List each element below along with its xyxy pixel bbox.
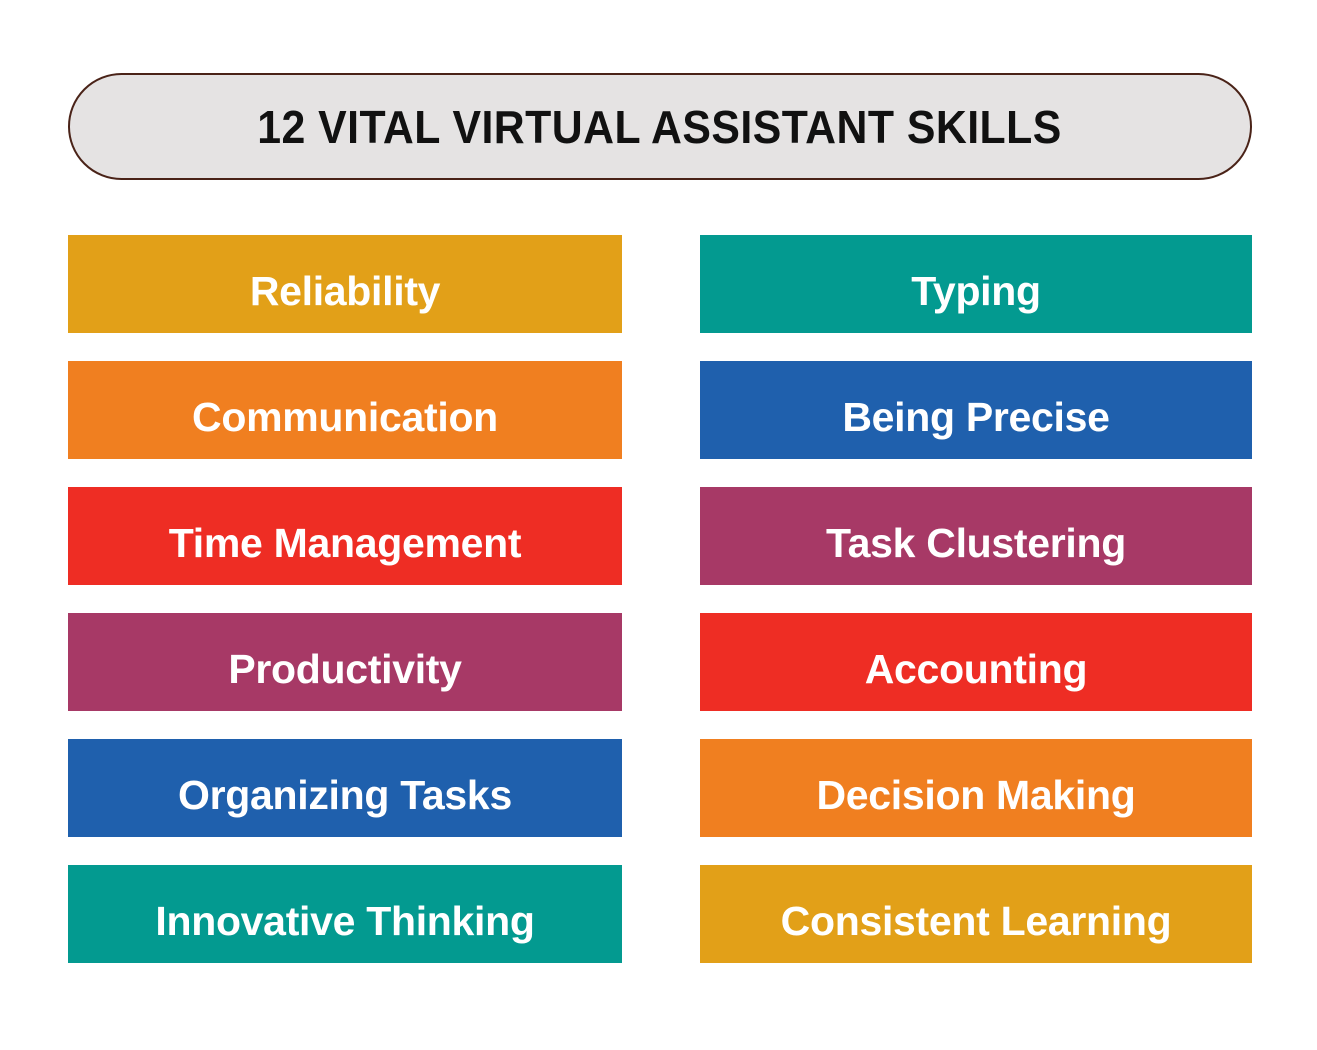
skill-bar-consistent-learning[interactable]: Consistent Learning	[700, 865, 1252, 963]
skills-column-right: Typing Being Precise Task Clustering Acc…	[700, 235, 1252, 963]
skill-label: Reliability	[250, 271, 440, 312]
skill-bar-reliability[interactable]: Reliability	[68, 235, 622, 333]
skill-bar-productivity[interactable]: Productivity	[68, 613, 622, 711]
skill-bar-decision-making[interactable]: Decision Making	[700, 739, 1252, 837]
skill-bar-typing[interactable]: Typing	[700, 235, 1252, 333]
skill-label: Organizing Tasks	[178, 775, 512, 816]
skill-label: Innovative Thinking	[155, 901, 534, 942]
skill-label: Productivity	[228, 649, 461, 690]
skill-label: Accounting	[865, 649, 1087, 690]
skill-label: Being Precise	[842, 397, 1109, 438]
skill-bar-communication[interactable]: Communication	[68, 361, 622, 459]
skill-bar-task-clustering[interactable]: Task Clustering	[700, 487, 1252, 585]
skill-bar-innovative-thinking[interactable]: Innovative Thinking	[68, 865, 622, 963]
skill-label: Communication	[192, 397, 498, 438]
skills-column-left: Reliability Communication Time Managemen…	[68, 235, 622, 963]
skill-bar-accounting[interactable]: Accounting	[700, 613, 1252, 711]
skill-label: Time Management	[169, 523, 521, 564]
skill-label: Decision Making	[816, 775, 1135, 816]
title-pill: 12 VITAL VIRTUAL ASSISTANT SKILLS	[68, 73, 1252, 180]
skill-bar-being-precise[interactable]: Being Precise	[700, 361, 1252, 459]
skill-bar-time-management[interactable]: Time Management	[68, 487, 622, 585]
infographic-canvas: 12 VITAL VIRTUAL ASSISTANT SKILLS Reliab…	[0, 0, 1317, 1050]
skill-label: Task Clustering	[826, 523, 1126, 564]
page-title: 12 VITAL VIRTUAL ASSISTANT SKILLS	[258, 104, 1062, 150]
skill-label: Typing	[911, 271, 1041, 312]
skill-bar-organizing-tasks[interactable]: Organizing Tasks	[68, 739, 622, 837]
skill-label: Consistent Learning	[781, 901, 1172, 942]
